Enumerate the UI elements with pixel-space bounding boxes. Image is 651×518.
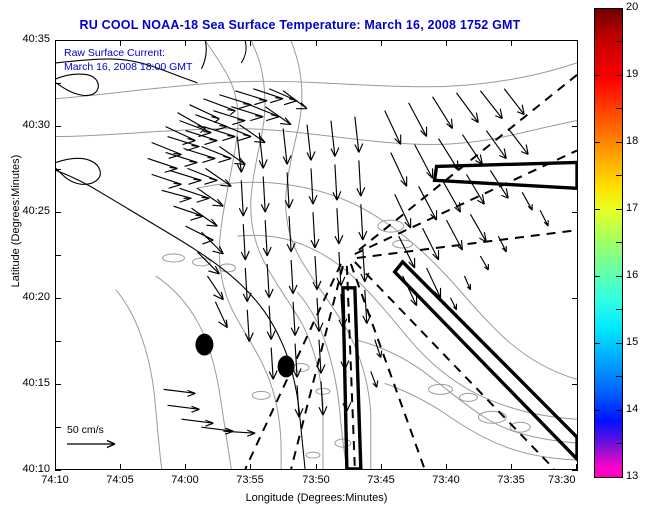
scale-reference: 50 cm/s bbox=[61, 424, 171, 451]
x-tick-label: 73:30 bbox=[548, 474, 594, 486]
annotation-line-2: March 16, 2008 18:00 GMT bbox=[64, 61, 192, 75]
x-axis-title: Longitude (Degrees:Minutes) bbox=[55, 492, 578, 504]
figure-title: RU COOL NOAA-18 Sea Surface Temperature:… bbox=[0, 18, 600, 32]
station-marker bbox=[278, 356, 295, 378]
y-tick-label: 40:35 bbox=[0, 33, 50, 45]
map-canvas bbox=[56, 41, 577, 469]
x-tick-label: 73:40 bbox=[418, 474, 474, 486]
x-tick-label: 74:00 bbox=[157, 474, 213, 486]
colorbar-tick-label: 15 bbox=[626, 336, 638, 348]
colorbar-tick-label: 20 bbox=[626, 1, 638, 13]
map-axes: Raw Surface Current: March 16, 2008 18:0… bbox=[55, 40, 578, 470]
y-tick-label: 40:30 bbox=[0, 119, 50, 131]
x-tick-label: 73:50 bbox=[288, 474, 344, 486]
annotation-line-1: Raw Surface Current: bbox=[64, 47, 192, 61]
colorbar-tick-label: 14 bbox=[626, 403, 638, 415]
y-tick-label: 40:15 bbox=[0, 377, 50, 389]
x-tick-label: 73:45 bbox=[353, 474, 409, 486]
annotation-block: Raw Surface Current: March 16, 2008 18:0… bbox=[64, 47, 192, 74]
sst-figure: RU COOL NOAA-18 Sea Surface Temperature:… bbox=[0, 0, 651, 518]
colorbar-tick-label: 13 bbox=[626, 470, 638, 482]
scale-arrow-icon bbox=[61, 437, 131, 451]
x-tick-label: 73:35 bbox=[483, 474, 539, 486]
bathymetry-contours bbox=[56, 41, 577, 469]
colorbar-tick-label: 16 bbox=[626, 269, 638, 281]
x-tick-label: 73:55 bbox=[222, 474, 278, 486]
station-markers bbox=[195, 334, 294, 378]
colorbar-tick-label: 19 bbox=[626, 68, 638, 80]
station-marker bbox=[195, 334, 213, 356]
x-tick-label: 74:05 bbox=[92, 474, 148, 486]
colorbar-tick-label: 17 bbox=[626, 202, 638, 214]
y-axis-title: Latitude (Degrees:Minutes) bbox=[10, 121, 22, 321]
y-tick-label: 40:20 bbox=[0, 291, 50, 303]
colorbar-tick-label: 18 bbox=[626, 135, 638, 147]
surface-current-vectors bbox=[148, 89, 548, 436]
x-tick-label: 74:10 bbox=[27, 474, 83, 486]
scale-reference-label: 50 cm/s bbox=[67, 424, 171, 436]
y-tick-label: 40:25 bbox=[0, 205, 50, 217]
